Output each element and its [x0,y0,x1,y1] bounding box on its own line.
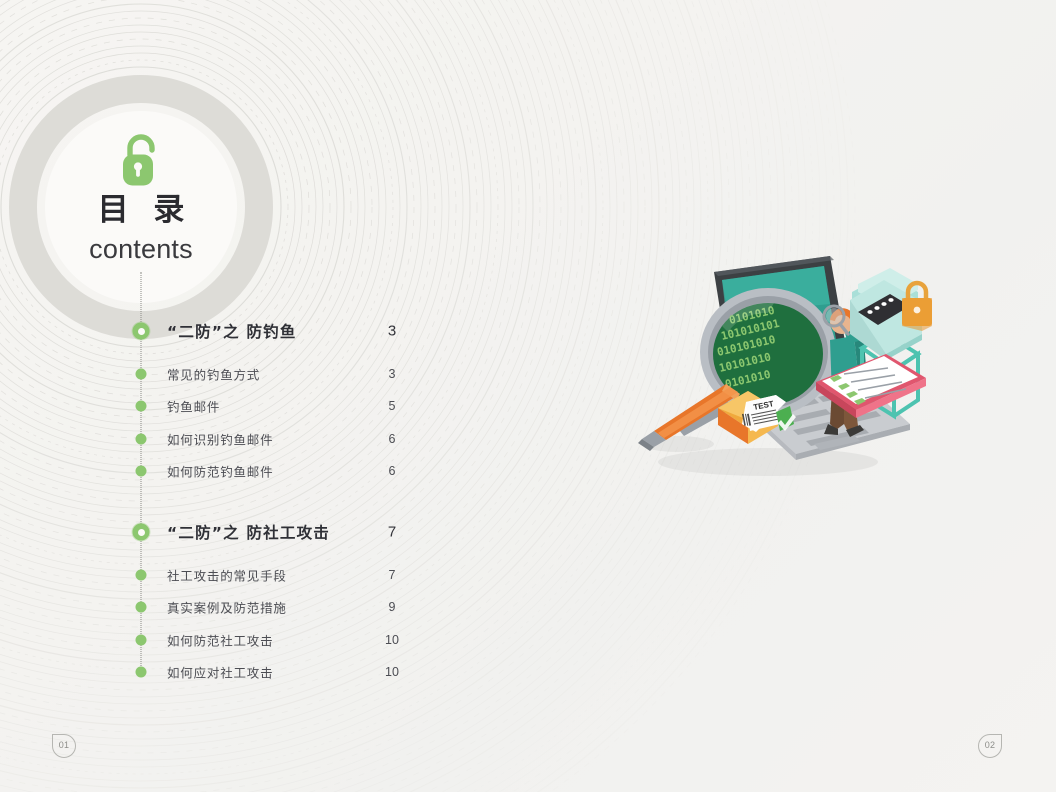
toc-item-row[interactable]: 常见的钓鱼方式3 [0,362,430,386]
toc-page-number: 6 [370,432,414,446]
toc-page-number: 3 [370,323,414,340]
toc-section-row[interactable]: “二防”之 防钓鱼3 [0,319,430,343]
bullet-dot-icon [136,466,147,477]
toc-item-row[interactable]: 如何防范钓鱼邮件6 [0,459,430,483]
slide-page: 目 录 contents “二防”之 防钓鱼3常见的钓鱼方式3钓鱼邮件5如何识别… [0,0,1056,792]
page-title-cn: 目 录 [0,193,301,229]
toc-item-row[interactable]: 如何应对社工攻击10 [0,660,430,684]
toc-item-row[interactable]: 社工攻击的常见手段7 [0,563,430,587]
page-title-en: contents [0,235,301,265]
toc-page-number: 7 [370,524,414,541]
toc-item-label: 常见的钓鱼方式 [167,365,260,384]
toc-section-row[interactable]: “二防”之 防社工攻击7 [0,520,430,544]
toc-page-number: 10 [370,633,414,647]
toc-page-number: 3 [370,367,414,381]
toc-item-row[interactable]: 真实案例及防范措施9 [0,595,430,619]
toc-page-number: 5 [370,399,414,413]
title-block: 目 录 contents [0,133,301,264]
toc-item-row[interactable]: 如何识别钓鱼邮件6 [0,427,430,451]
bullet-dot-icon [136,433,147,444]
bullet-dot-icon [136,401,147,412]
bullet-dot-icon [136,667,147,678]
toc-page-number: 6 [370,464,414,478]
toc-item-label: 如何防范社工攻击 [167,630,273,649]
bullet-dot-icon [136,369,147,380]
toc-section-label: “二防”之 防社工攻击 [167,521,330,543]
toc-item-label: 钓鱼邮件 [167,397,220,416]
section-ring-icon [133,524,150,541]
toc-item-label: 如何应对社工攻击 [167,663,273,682]
toc-page-number: 7 [370,568,414,582]
bullet-dot-icon [136,570,147,581]
toc-page-number: 9 [370,600,414,614]
toc-item-row[interactable]: 钓鱼邮件5 [0,394,430,418]
toc-item-label: 社工攻击的常见手段 [167,566,287,585]
toc-item-row[interactable]: 如何防范社工攻击10 [0,628,430,652]
toc-page-number: 10 [370,665,414,679]
table-of-contents: “二防”之 防钓鱼3常见的钓鱼方式3钓鱼邮件5如何识别钓鱼邮件6如何防范钓鱼邮件… [0,0,1056,792]
toc-item-label: 真实案例及防范措施 [167,598,287,617]
section-ring-icon [133,323,150,340]
toc-item-label: 如何识别钓鱼邮件 [167,429,273,448]
toc-section-label: “二防”之 防钓鱼 [167,320,297,342]
toc-item-label: 如何防范钓鱼邮件 [167,462,273,481]
bullet-dot-icon [136,634,147,645]
open-padlock-icon [116,133,166,187]
bullet-dot-icon [136,602,147,613]
